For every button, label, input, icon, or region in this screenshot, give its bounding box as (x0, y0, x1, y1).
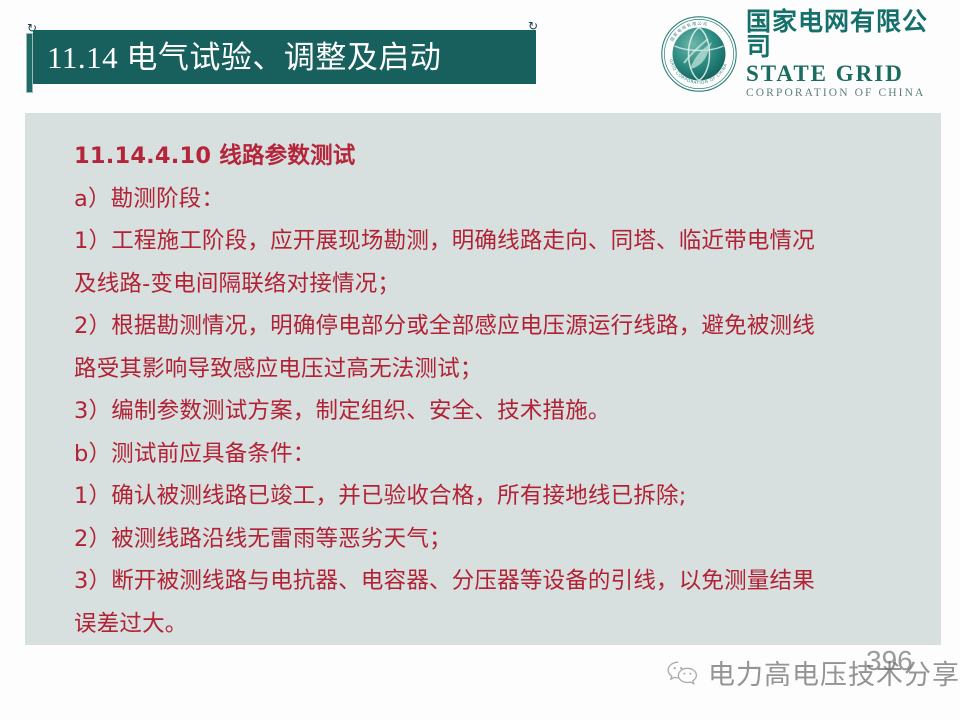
title-banner-left-handle[interactable] (26, 33, 33, 93)
content-line: a）勘测阶段： (74, 178, 917, 221)
state-grid-logo-wordmark: 国家电网有限公司 STATE GRID CORPORATION OF CHINA (746, 9, 950, 100)
logo-english-subtitle: CORPORATION OF CHINA (746, 88, 950, 100)
content-line: 1）工程施工阶段，应开展现场勘测，明确线路走向、同塔、临近带电情况 (74, 220, 917, 263)
watermark-text: 电力高电压技术分享 (708, 653, 960, 692)
logo-english-name: STATE GRID (746, 62, 950, 85)
content-line: 2）根据勘测情况，明确停电部分或全部感应电压源运行线路，避免被测线 (74, 305, 917, 348)
content-panel: 11.14.4.10 线路参数测试a）勘测阶段：1）工程施工阶段，应开展现场勘测… (25, 113, 941, 645)
content-line: 及线路-变电间隔联络对接情况； (74, 263, 917, 306)
wechat-watermark: 电力高电压技术分享 (666, 653, 960, 692)
content-line: 2）被测线路沿线无雷雨等恶劣天气； (74, 518, 917, 561)
content-heading: 11.14.4.10 线路参数测试 (74, 135, 917, 178)
logo-chinese-name: 国家电网有限公司 (746, 9, 950, 59)
content-line: 3）断开被测线路与电抗器、电容器、分压器等设备的引线，以免测量结果 (74, 560, 917, 603)
page-title: 11.14 电气试验、调整及启动 (47, 42, 441, 73)
content-line: 1）确认被测线路已竣工，并已验收合格，所有接地线已拆除; (74, 475, 917, 518)
content-line: 3）编制参数测试方案，制定组织、安全、技术措施。 (74, 390, 917, 433)
content-line: 误差过大。 (74, 603, 917, 646)
state-grid-globe-emblem: 国家电网有限公司 GRID CORPORATION OF CHINA (660, 15, 738, 93)
content-line: 路受其影响导致感应电压过高无法测试； (74, 348, 917, 391)
slide-title-banner[interactable]: 11.14 电气试验、调整及启动 (33, 30, 536, 84)
slide-canvas: ↻ ↻ 11.14 电气试验、调整及启动 (0, 0, 960, 720)
wechat-icon (666, 660, 700, 686)
state-grid-logo: 国家电网有限公司 GRID CORPORATION OF CHINA 国家电网有… (660, 14, 950, 94)
content-line: b）测试前应具备条件： (74, 433, 917, 476)
